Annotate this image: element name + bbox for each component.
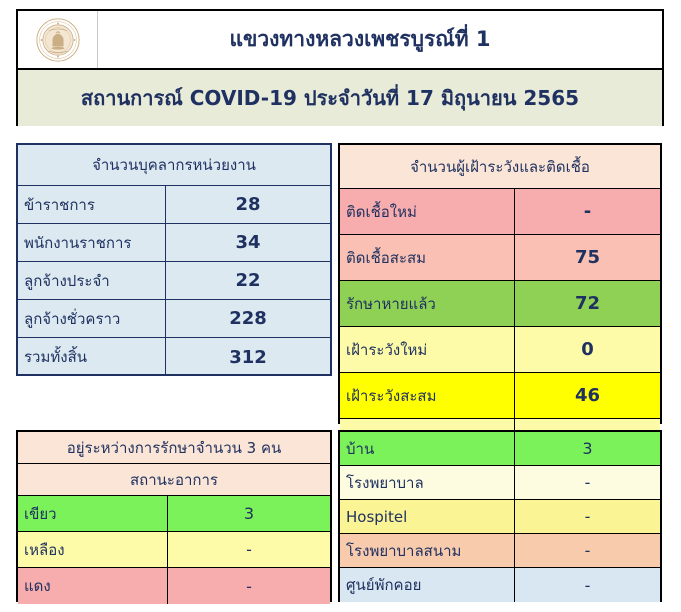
- surveillance-row-label: เฝ้าระวังสะสม: [340, 373, 515, 418]
- treatment-place-table: บ้าน 3 โรงพยาบาล - Hospitel - โรงพยาบาลส…: [338, 430, 662, 602]
- surveillance-row-value: 0: [515, 327, 660, 372]
- personnel-table-header-row: จำนวนบุคลากรหน่วยงาน: [18, 145, 330, 186]
- status-table-header-row: อยู่ระหว่างการรักษาจำนวน 3 คน: [18, 432, 330, 464]
- table-row: โรงพยาบาลสนาม -: [340, 534, 660, 568]
- personnel-row-value: 312: [166, 338, 330, 376]
- surveillance-row-value: 72: [515, 281, 660, 326]
- table-row: ลูกจ้างประจำ 22: [18, 262, 330, 300]
- table-row: เขียว 3: [18, 496, 330, 532]
- status-row-value: 3: [168, 496, 330, 531]
- place-row-label: Hospitel: [340, 500, 515, 533]
- table-row: แดง -: [18, 568, 330, 604]
- status-row-label: เหลือง: [18, 532, 168, 567]
- table-row: ข้าราชการ 28: [18, 186, 330, 224]
- table-row: ลูกจ้างชั่วคราว 228: [18, 300, 330, 338]
- personnel-row-label: ข้าราชการ: [18, 186, 166, 223]
- header-title-cell: แขวงทางหลวงเพชรบูรณ์ที่ 1: [98, 11, 662, 68]
- status-row-value: -: [168, 532, 330, 567]
- place-row-value: -: [515, 500, 660, 533]
- personnel-row-value: 34: [166, 224, 330, 261]
- place-row-label: บ้าน: [340, 432, 515, 465]
- place-row-label: โรงพยาบาล: [340, 466, 515, 499]
- table-row: เฝ้าระวังสะสม 46: [340, 373, 660, 419]
- place-row-label: โรงพยาบาลสนาม: [340, 534, 515, 567]
- table-row: Hospitel -: [340, 500, 660, 534]
- surveillance-row-label: รักษาหายแล้ว: [340, 281, 515, 326]
- status-row-label: แดง: [18, 568, 168, 604]
- place-row-value: -: [515, 466, 660, 499]
- table-row: พนักงานราชการ 34: [18, 224, 330, 262]
- place-row-value: -: [515, 534, 660, 567]
- place-row-label: ศูนย์พักคอย: [340, 568, 515, 602]
- personnel-row-value: 22: [166, 262, 330, 299]
- surveillance-row-value: 46: [515, 373, 660, 418]
- treatment-status-table: อยู่ระหว่างการรักษาจำนวน 3 คน สถานะอาการ…: [16, 430, 332, 602]
- page-subtitle: สถานการณ์ COVID-19 ประจำวันที่ 17 มิถุนา…: [81, 82, 579, 114]
- surveillance-row-value: 75: [515, 235, 660, 280]
- surveillance-table-header-row: จำนวนผู้เฝ้าระวังและติดเชื้อ: [340, 145, 660, 189]
- status-row-label: เขียว: [18, 496, 168, 531]
- personnel-row-label: รวมทั้งสิ้น: [18, 338, 166, 376]
- header-subtitle-row: สถานการณ์ COVID-19 ประจำวันที่ 17 มิถุนา…: [18, 70, 662, 126]
- place-row-value: -: [515, 568, 660, 602]
- header-title-row: แขวงทางหลวงเพชรบูรณ์ที่ 1: [18, 11, 662, 70]
- place-row-value: 3: [515, 432, 660, 465]
- personnel-row-label: พนักงานราชการ: [18, 224, 166, 261]
- surveillance-table: จำนวนผู้เฝ้าระวังและติดเชื้อ ติดเชื้อใหม…: [338, 143, 662, 424]
- table-row: เหลือง -: [18, 532, 330, 568]
- status-table-title: อยู่ระหว่างการรักษาจำนวน 3 คน: [18, 432, 330, 463]
- page-title: แขวงทางหลวงเพชรบูรณ์ที่ 1: [230, 23, 491, 56]
- personnel-table-title: จำนวนบุคลากรหน่วยงาน: [18, 145, 330, 185]
- status-table-subheader-row: สถานะอาการ: [18, 464, 330, 496]
- surveillance-table-title: จำนวนผู้เฝ้าระวังและติดเชื้อ: [340, 145, 660, 188]
- table-row: ศูนย์พักคอย -: [340, 568, 660, 602]
- surveillance-row-label: ติดเชื้อสะสม: [340, 235, 515, 280]
- table-row: รักษาหายแล้ว 72: [340, 281, 660, 327]
- table-row: ติดเชื้อสะสม 75: [340, 235, 660, 281]
- status-table-subtitle: สถานะอาการ: [18, 464, 330, 495]
- surveillance-row-value: -: [515, 189, 660, 234]
- logo-cell: [18, 11, 98, 68]
- personnel-table: จำนวนบุคลากรหน่วยงาน ข้าราชการ 28 พนักงา…: [16, 143, 332, 376]
- table-row: บ้าน 3: [340, 432, 660, 466]
- table-row: เฝ้าระวังใหม่ 0: [340, 327, 660, 373]
- surveillance-row-label: เฝ้าระวังใหม่: [340, 327, 515, 372]
- government-seal-icon: [35, 17, 81, 63]
- header-banner: แขวงทางหลวงเพชรบูรณ์ที่ 1 สถานการณ์ COVI…: [16, 9, 664, 126]
- table-row: รวมทั้งสิ้น 312: [18, 338, 330, 376]
- personnel-row-value: 228: [166, 300, 330, 337]
- personnel-row-label: ลูกจ้างชั่วคราว: [18, 300, 166, 337]
- personnel-row-label: ลูกจ้างประจำ: [18, 262, 166, 299]
- surveillance-row-label: ติดเชื้อใหม่: [340, 189, 515, 234]
- table-row: ติดเชื้อใหม่ -: [340, 189, 660, 235]
- personnel-row-value: 28: [166, 186, 330, 223]
- table-row: โรงพยาบาล -: [340, 466, 660, 500]
- status-row-value: -: [168, 568, 330, 604]
